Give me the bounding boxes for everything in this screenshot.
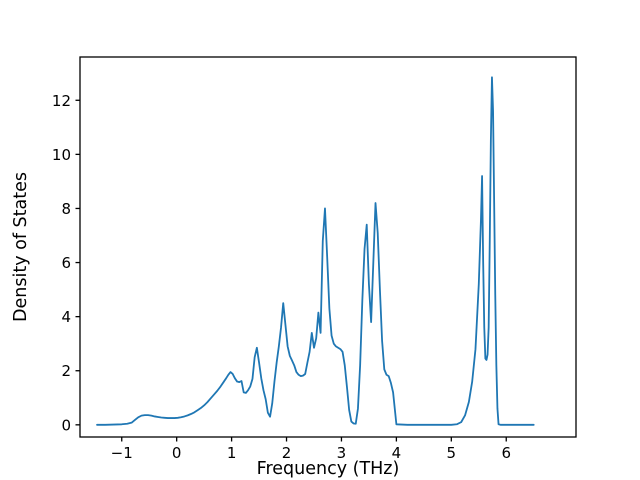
y-tick-group: 024681012 xyxy=(52,92,80,435)
y-tick-label: 4 xyxy=(61,308,71,326)
y-tick-label: 10 xyxy=(52,146,71,164)
y-tick-label: 6 xyxy=(61,254,71,272)
x-axis-label: Frequency (THz) xyxy=(257,459,400,479)
y-tick-label: 8 xyxy=(61,200,71,218)
y-tick-label: 0 xyxy=(61,416,71,434)
x-tick-label: −1 xyxy=(111,444,133,462)
plot-background xyxy=(80,57,576,437)
y-axis-label: Density of States xyxy=(11,172,31,322)
x-tick-label: 6 xyxy=(501,444,511,462)
y-tick-label: 2 xyxy=(61,362,71,380)
dos-plot: −10123456 024681012 Frequency (THz) Dens… xyxy=(0,0,640,480)
y-tick-label: 12 xyxy=(52,92,71,110)
x-tick-label: 1 xyxy=(227,444,237,462)
x-tick-label: 5 xyxy=(447,444,457,462)
figure-canvas: −10123456 024681012 Frequency (THz) Dens… xyxy=(0,0,640,480)
x-tick-label: 0 xyxy=(172,444,182,462)
